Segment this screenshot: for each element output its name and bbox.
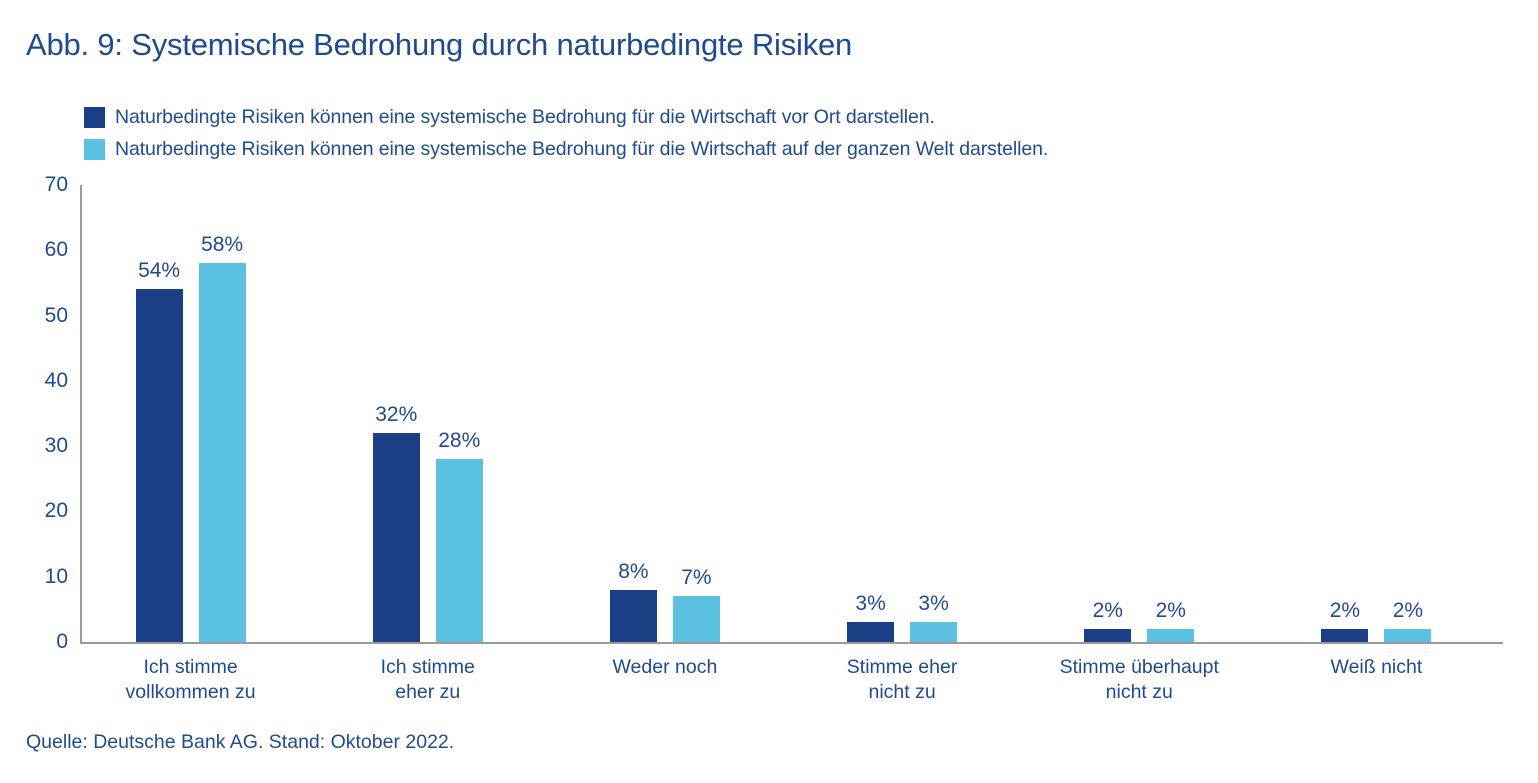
x-category-label-0: Ich stimme vollkommen zu [52, 655, 329, 705]
bar-series-1-category-5[interactable] [1384, 629, 1431, 642]
y-tick-label-10: 10 [6, 565, 68, 589]
bar-series-1-category-4[interactable] [1147, 629, 1194, 642]
bar-value-label-series-0-category-1: 32% [375, 403, 417, 427]
bar-series-1-category-3[interactable] [910, 622, 957, 642]
bar-series-1-category-2[interactable] [673, 596, 720, 642]
x-category-label-2: Weder noch [526, 655, 803, 680]
y-tick-label-60: 60 [6, 238, 68, 262]
bar-series-0-category-5[interactable] [1321, 629, 1368, 642]
source-note: Quelle: Deutsche Bank AG. Stand: Oktober… [26, 731, 454, 754]
bar-value-label-series-0-category-5: 2% [1330, 599, 1360, 623]
y-tick-label-20: 20 [6, 499, 68, 523]
y-tick-label-70: 70 [6, 173, 68, 197]
bar-series-0-category-1[interactable] [373, 433, 420, 642]
bar-series-0-category-2[interactable] [610, 590, 657, 642]
bar-value-label-series-1-category-4: 2% [1156, 599, 1186, 623]
bar-series-0-category-3[interactable] [847, 622, 894, 642]
y-tick-label-0: 0 [6, 630, 68, 654]
y-tick-label-30: 30 [6, 434, 68, 458]
bar-value-label-series-1-category-5: 2% [1393, 599, 1423, 623]
x-category-label-1: Ich stimme eher zu [289, 655, 566, 705]
y-tick-label-40: 40 [6, 369, 68, 393]
x-category-label-4: Stimme überhaupt nicht zu [1001, 655, 1278, 705]
bar-value-label-series-0-category-0: 54% [138, 259, 180, 283]
bar-value-label-series-0-category-4: 2% [1093, 599, 1123, 623]
x-category-label-5: Weiß nicht [1238, 655, 1515, 680]
bar-series-0-category-0[interactable] [136, 289, 183, 642]
bar-value-label-series-0-category-3: 3% [855, 592, 885, 616]
bar-series-1-category-0[interactable] [199, 263, 246, 642]
y-tick-label-50: 50 [6, 304, 68, 328]
bar-chart-plot: 010203040506070 54%58%32%28%8%7%3%3%2%2%… [0, 0, 1538, 783]
x-category-label-3: Stimme eher nicht zu [764, 655, 1041, 705]
bar-series-0-category-4[interactable] [1084, 629, 1131, 642]
bar-value-label-series-1-category-3: 3% [918, 592, 948, 616]
x-axis-line [80, 642, 1503, 644]
bar-value-label-series-1-category-1: 28% [438, 429, 480, 453]
bar-value-label-series-1-category-2: 7% [681, 566, 711, 590]
bar-value-label-series-1-category-0: 58% [201, 233, 243, 257]
bar-series-1-category-1[interactable] [436, 459, 483, 642]
bar-value-label-series-0-category-2: 8% [618, 560, 648, 584]
y-axis-line [80, 185, 82, 643]
